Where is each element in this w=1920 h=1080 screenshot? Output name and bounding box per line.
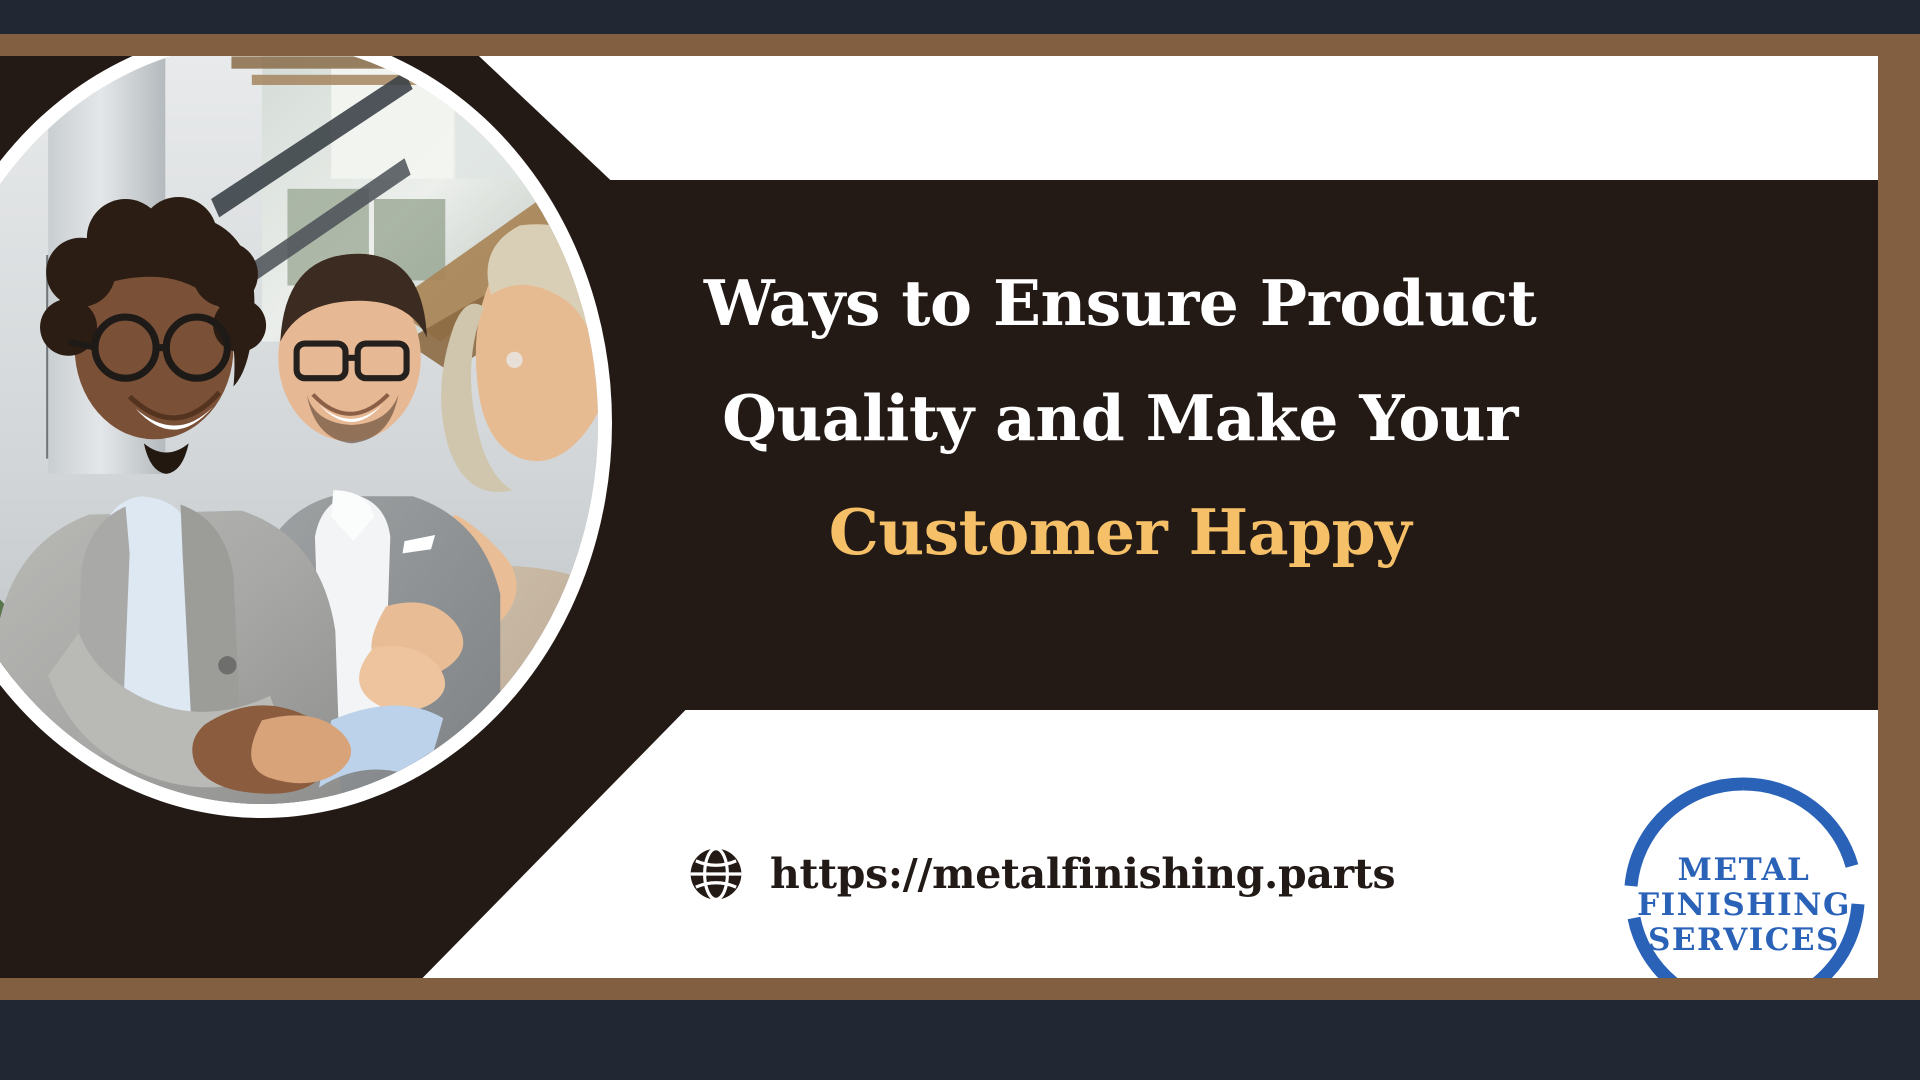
globe-icon — [688, 846, 744, 902]
banner-card: Ways to Ensure Product Quality and Make … — [0, 56, 1878, 978]
headline-block: Ways to Ensure Product Quality and Make … — [690, 246, 1550, 590]
logo-line-2: FINISHING — [1637, 887, 1851, 923]
headline-line-1: Ways to Ensure Product — [690, 246, 1550, 361]
headline-accent-line: Customer Happy — [690, 475, 1550, 590]
website-url-text[interactable]: https://metalfinishing.parts — [770, 850, 1395, 898]
business-people-handshake-photo — [0, 56, 598, 804]
logo-line-1: METAL — [1678, 852, 1811, 888]
headline-line-2: Quality and Make Your — [690, 361, 1550, 476]
website-url-row[interactable]: https://metalfinishing.parts — [688, 846, 1395, 902]
banner-canvas: Ways to Ensure Product Quality and Make … — [0, 0, 1920, 1080]
metal-finishing-services-logo: METAL FINISHING SERVICES — [1616, 768, 1872, 978]
logo-line-3: SERVICES — [1648, 922, 1840, 958]
